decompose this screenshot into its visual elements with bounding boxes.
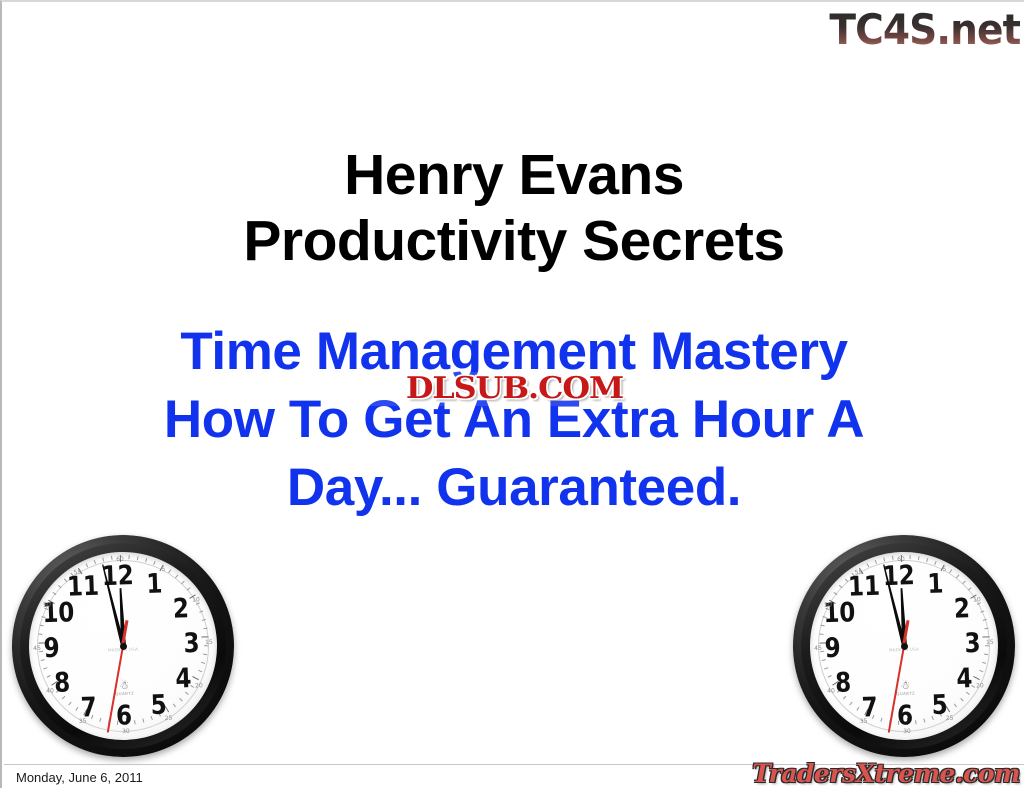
clock-minute-number: 25 bbox=[165, 716, 173, 722]
clock-tick bbox=[110, 556, 112, 560]
tc4s-brand-logo: TC4S.net bbox=[810, 4, 1020, 56]
clock-numeral: 11 bbox=[67, 573, 100, 601]
page-subtitle: Time Management Mastery How To Get An Ex… bbox=[42, 318, 986, 522]
clock-numeral: 11 bbox=[848, 573, 881, 601]
clock-minute-number: 15 bbox=[205, 640, 213, 646]
clock-minute-number: 40 bbox=[827, 688, 835, 694]
clock-tick bbox=[955, 575, 958, 579]
clock-tick bbox=[866, 563, 869, 567]
clock-minute-number: 10 bbox=[973, 597, 981, 603]
clock-tick bbox=[982, 636, 989, 638]
clock-brand-text: QUARTZ bbox=[115, 691, 134, 697]
clock-minute-number: 15 bbox=[986, 640, 994, 646]
clock-minute-number: 10 bbox=[192, 597, 200, 603]
clock-minute-number: 30 bbox=[122, 729, 130, 735]
presentation-slide: TC4S.net Henry Evans Productivity Secret… bbox=[0, 0, 1024, 788]
dlsub-watermark-text: DLSUB.COM bbox=[405, 374, 622, 404]
clock-tick bbox=[145, 558, 147, 562]
clock-minute-number: 60 bbox=[116, 557, 124, 563]
clock-numeral: 9 bbox=[824, 635, 841, 663]
clock-center-cap bbox=[900, 642, 907, 649]
clock-minute-number: 55 bbox=[855, 570, 863, 576]
tradersxtreme-watermark: TradersXtreme.com bbox=[752, 758, 1020, 788]
wall-clock-left: MADE IN USA ☃ QUARTZ 1212345678910116051… bbox=[8, 531, 238, 761]
title-line-1: Henry Evans bbox=[2, 142, 1024, 208]
clock-tick bbox=[134, 720, 136, 724]
clock-minute-number: 20 bbox=[195, 683, 203, 689]
clock-numeral: 2 bbox=[172, 595, 189, 623]
clock-minute-number: 50 bbox=[824, 602, 832, 608]
clock-tick bbox=[934, 561, 936, 565]
clock-minute-number: 45 bbox=[814, 646, 822, 652]
clock-minute-number: 5 bbox=[161, 567, 165, 573]
brand-logo-text: TC4S.net bbox=[829, 9, 1020, 51]
tradersxtreme-watermark-text: TradersXtreme.com bbox=[752, 761, 1020, 786]
clock-numeral: 4 bbox=[956, 665, 973, 693]
clock-numeral: 1 bbox=[146, 570, 163, 598]
clock-minute-number: 20 bbox=[976, 683, 984, 689]
clock-center-cap bbox=[119, 642, 126, 649]
clock-tick bbox=[93, 560, 95, 564]
clock-tick bbox=[926, 558, 928, 562]
clock-numeral: 8 bbox=[835, 669, 852, 697]
clock-tick bbox=[201, 636, 208, 638]
page-title: Henry Evans Productivity Secrets bbox=[2, 142, 1024, 274]
clock-minute-number: 25 bbox=[946, 716, 954, 722]
clock-tick bbox=[128, 555, 129, 559]
title-line-2: Productivity Secrets bbox=[2, 208, 1024, 274]
clock-numeral: 4 bbox=[175, 665, 192, 693]
clock-minute-number: 35 bbox=[860, 719, 868, 725]
clock-minute-number: 55 bbox=[74, 570, 82, 576]
clock-minute-number: 5 bbox=[942, 567, 946, 573]
clock-numeral: 3 bbox=[964, 630, 981, 658]
clock-minute-number: 35 bbox=[79, 719, 87, 725]
clock-tick bbox=[949, 569, 952, 573]
clock-numeral: 8 bbox=[54, 669, 71, 697]
clock-tick bbox=[915, 720, 917, 724]
clock-numeral: 2 bbox=[953, 595, 970, 623]
clock-tick bbox=[136, 556, 138, 560]
clock-brand-text: QUARTZ bbox=[896, 691, 915, 697]
clock-tick bbox=[153, 561, 155, 565]
clock-tick bbox=[174, 575, 177, 579]
dlsub-watermark: DLSUB.COM bbox=[370, 372, 658, 406]
clock-numeral: 9 bbox=[43, 635, 60, 663]
clock-tick bbox=[891, 556, 893, 560]
clock-minute-number: 50 bbox=[43, 602, 51, 608]
wall-clock-right: MADE IN USA ☃ QUARTZ 1212345678910116051… bbox=[789, 531, 1019, 761]
clock-tick bbox=[168, 569, 171, 573]
clock-tick bbox=[85, 563, 88, 567]
clock-minute-number: 40 bbox=[46, 688, 54, 694]
clock-minute-number: 30 bbox=[903, 729, 911, 735]
footer-date: Monday, June 6, 2011 bbox=[16, 770, 143, 786]
clock-minute-number: 60 bbox=[897, 557, 905, 563]
clock-numeral: 6 bbox=[116, 702, 133, 730]
clock-tick bbox=[917, 556, 919, 560]
clock-tick bbox=[909, 555, 910, 559]
clock-numeral: 6 bbox=[897, 702, 914, 730]
clock-tick bbox=[874, 560, 876, 564]
subtitle-line-3: Day... Guaranteed. bbox=[42, 454, 986, 522]
clock-minute-number: 45 bbox=[33, 646, 41, 652]
clock-numeral: 1 bbox=[927, 570, 944, 598]
clock-numeral: 3 bbox=[183, 630, 200, 658]
